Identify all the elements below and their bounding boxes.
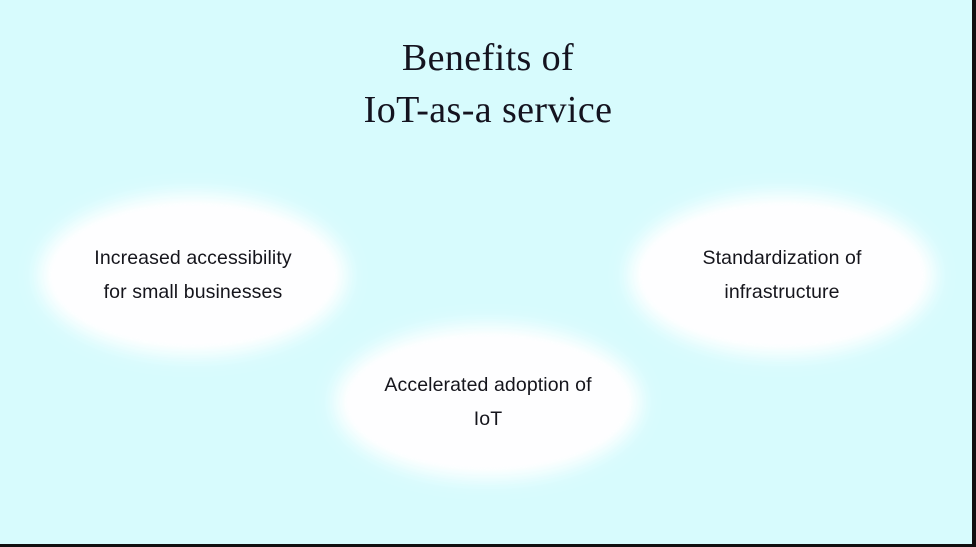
bubble-label: Accelerated adoption of IoT — [362, 368, 613, 436]
slide-title: Benefits of IoT-as-a service — [0, 32, 976, 136]
bubble-label-line-1: Increased accessibility — [94, 241, 291, 275]
bubble-label-line-1: Standardization of — [703, 241, 862, 275]
benefit-bubble-accelerated-adoption-of-iot[interactable]: Accelerated adoption of IoT — [340, 330, 636, 474]
benefit-bubble-standardization-of-infrastructure[interactable]: Standardization of infrastructure — [634, 199, 930, 351]
benefit-bubble-increased-accessibility[interactable]: Increased accessibility for small busine… — [44, 199, 342, 351]
bubble-label-line-2: for small businesses — [94, 275, 291, 309]
bubble-label-line-1: Accelerated adoption of — [384, 368, 591, 402]
presentation-slide: Benefits of IoT-as-a service Increased a… — [0, 0, 976, 547]
slide-title-line-1: Benefits of — [0, 32, 976, 84]
bubble-label-line-2: infrastructure — [703, 275, 862, 309]
slide-right-edge-border — [972, 0, 976, 547]
slide-title-line-2: IoT-as-a service — [0, 84, 976, 136]
bubble-label: Standardization of infrastructure — [681, 241, 884, 309]
bubble-label: Increased accessibility for small busine… — [72, 241, 313, 309]
bubble-label-line-2: IoT — [384, 402, 591, 436]
